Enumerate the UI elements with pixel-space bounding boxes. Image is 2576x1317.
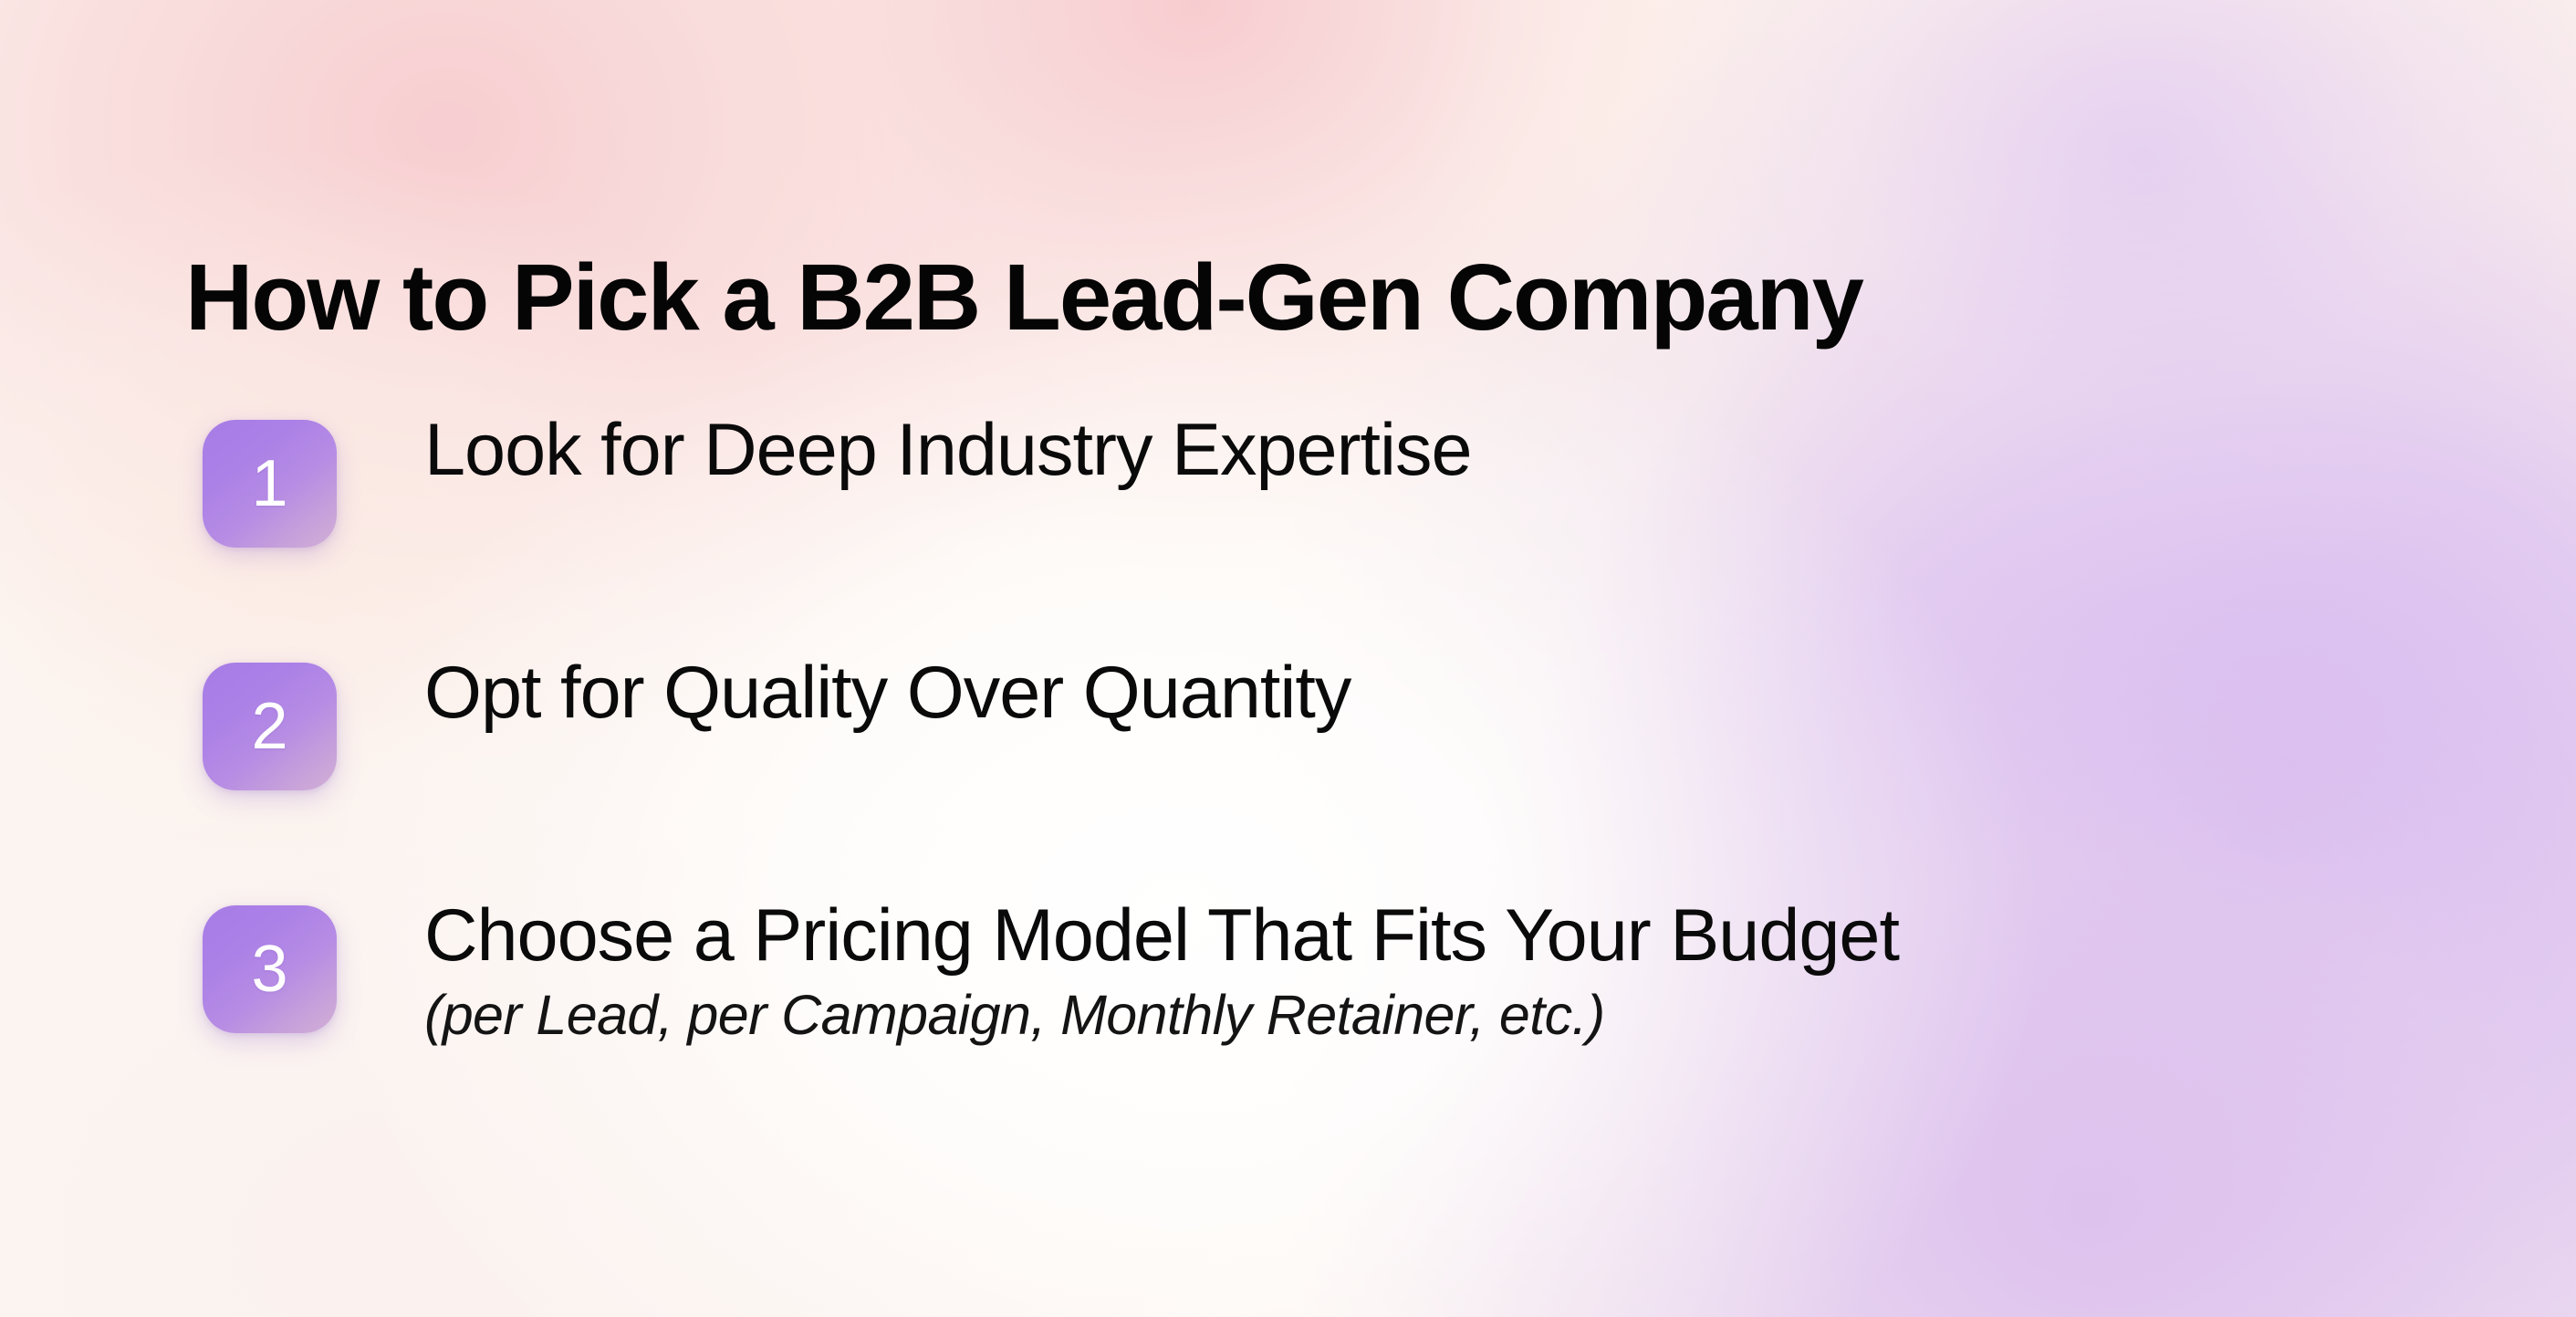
step-title: Opt for Quality Over Quantity bbox=[424, 652, 1351, 735]
step-number-badge: 2 bbox=[203, 663, 337, 790]
step-number-badge: 3 bbox=[203, 905, 337, 1033]
step-number-badge: 1 bbox=[203, 420, 337, 548]
step-title: Choose a Pricing Model That Fits Your Bu… bbox=[424, 894, 1899, 977]
step-number-label: 2 bbox=[251, 694, 287, 759]
step-body: Opt for Quality Over Quantity bbox=[424, 644, 1351, 735]
steps-list: 1 Look for Deep Industry Expertise 2 Opt… bbox=[185, 402, 2430, 1049]
step-subtitle: (per Lead, per Campaign, Monthly Retaine… bbox=[424, 983, 1899, 1049]
page-title: How to Pick a B2B Lead-Gen Company bbox=[185, 250, 1862, 344]
step-body: Choose a Pricing Model That Fits Your Bu… bbox=[424, 887, 1899, 1049]
step-title: Look for Deep Industry Expertise bbox=[424, 409, 1472, 492]
list-item: 2 Opt for Quality Over Quantity bbox=[185, 644, 2430, 790]
step-number-label: 1 bbox=[251, 451, 287, 517]
poster-canvas: How to Pick a B2B Lead-Gen Company 1 Loo… bbox=[0, 0, 2576, 1317]
step-number-label: 3 bbox=[251, 936, 287, 1002]
list-item: 1 Look for Deep Industry Expertise bbox=[185, 402, 2430, 548]
poster-content: How to Pick a B2B Lead-Gen Company 1 Loo… bbox=[0, 0, 2576, 1317]
step-body: Look for Deep Industry Expertise bbox=[424, 402, 1472, 492]
list-item: 3 Choose a Pricing Model That Fits Your … bbox=[185, 887, 2430, 1049]
